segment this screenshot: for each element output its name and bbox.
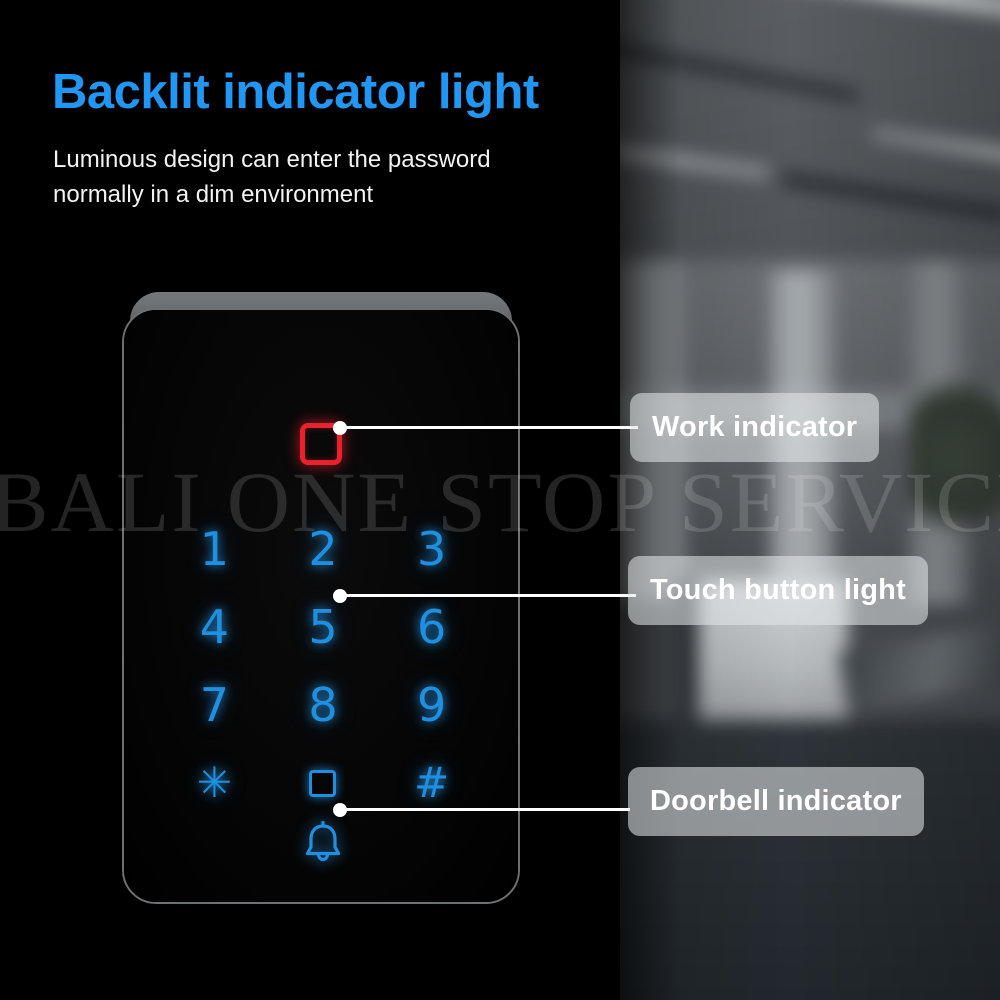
touch-keypad-device: 1 2 3 4 5 6 7 8 9 ✳ #: [122, 292, 520, 904]
callout-work-indicator-label: Work indicator: [652, 411, 857, 444]
leader-dot-touch-button-light: [333, 589, 347, 603]
callout-doorbell-indicator-label: Doorbell indicator: [650, 785, 902, 818]
product-feature-image: Backlit indicator light Luminous design …: [0, 0, 1000, 1000]
key-4[interactable]: 4: [200, 604, 229, 650]
device-body: 1 2 3 4 5 6 7 8 9 ✳ #: [122, 308, 520, 904]
photo-vignette: [620, 0, 1000, 1000]
key-9[interactable]: 9: [417, 682, 446, 728]
leader-dot-work-indicator: [333, 421, 347, 435]
keypad-grid: 1 2 3 4 5 6 7 8 9 ✳ #: [160, 510, 486, 822]
callout-work-indicator[interactable]: Work indicator: [630, 393, 879, 462]
key-8[interactable]: 8: [308, 682, 337, 728]
key-square-icon[interactable]: [309, 770, 336, 797]
doorbell-row: [124, 820, 522, 869]
bell-icon[interactable]: [302, 820, 344, 869]
background-office-photo: [620, 0, 1000, 1000]
key-2[interactable]: 2: [308, 526, 337, 572]
callout-doorbell-indicator[interactable]: Doorbell indicator: [628, 767, 924, 836]
leader-line-doorbell-indicator: [340, 808, 630, 811]
key-7[interactable]: 7: [200, 682, 229, 728]
key-1[interactable]: 1: [200, 526, 229, 572]
leader-dot-doorbell-indicator: [333, 803, 347, 817]
key-6[interactable]: 6: [417, 604, 446, 650]
callout-touch-button-light-label: Touch button light: [650, 574, 906, 607]
leader-line-work-indicator: [340, 426, 638, 429]
key-5[interactable]: 5: [308, 604, 337, 650]
callout-touch-button-light[interactable]: Touch button light: [628, 556, 928, 625]
page-title: Backlit indicator light: [52, 64, 539, 120]
key-hash[interactable]: #: [414, 762, 449, 804]
key-asterisk[interactable]: ✳: [197, 762, 232, 804]
leader-line-touch-button-light: [340, 594, 636, 597]
key-3[interactable]: 3: [417, 526, 446, 572]
device-face: 1 2 3 4 5 6 7 8 9 ✳ #: [124, 310, 518, 902]
page-subtitle: Luminous design can enter the password n…: [53, 142, 583, 212]
